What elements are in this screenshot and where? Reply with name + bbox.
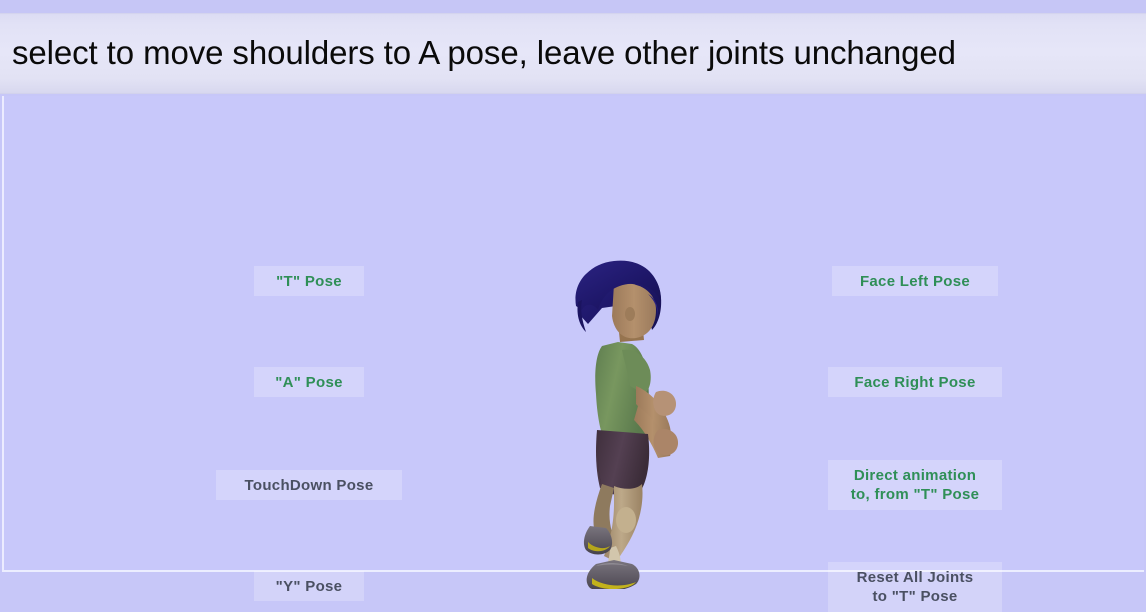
- neck: [618, 320, 644, 342]
- hand-lower-fist: [654, 429, 678, 455]
- instruction-header: select to move shoulders to A pose, leav…: [0, 13, 1146, 94]
- head: [612, 283, 656, 338]
- pose-selector-app: select to move shoulders to A pose, leav…: [0, 0, 1146, 574]
- face-left-pose-button[interactable]: Face Left Pose: [832, 266, 998, 296]
- shirt-torso: [595, 342, 649, 440]
- shoe-near: [587, 560, 640, 589]
- reset-all-joints-label-line2: to "T" Pose: [836, 587, 994, 606]
- a-pose-button[interactable]: "A" Pose: [254, 367, 364, 397]
- hair-highlight: [648, 294, 658, 324]
- shoe-near-highlight: [596, 563, 628, 566]
- leg-far: [593, 484, 618, 552]
- ear: [625, 307, 635, 321]
- direct-animation-button[interactable]: Direct animation to, from "T" Pose: [828, 460, 1002, 510]
- shirt-shadow: [597, 350, 600, 396]
- arm-forearm: [634, 406, 671, 458]
- shoe-far: [584, 526, 612, 555]
- direct-animation-label-line1: Direct animation: [854, 467, 976, 484]
- direct-animation-label-line2: to, from "T" Pose: [836, 485, 994, 504]
- shorts: [596, 430, 649, 495]
- shirt-sleeve: [622, 350, 651, 394]
- shoe-near-accent: [592, 578, 636, 589]
- reset-all-joints-label-line1: Reset All Joints: [857, 569, 974, 586]
- t-pose-button[interactable]: "T" Pose: [254, 266, 364, 296]
- touchdown-pose-button[interactable]: TouchDown Pose: [216, 470, 402, 500]
- top-strip: [0, 0, 1146, 13]
- hand-upper-fist: [653, 391, 676, 416]
- hair-back: [577, 261, 661, 330]
- reset-all-joints-button[interactable]: Reset All Joints to "T" Pose: [828, 562, 1002, 612]
- ankle-sock-near: [606, 546, 621, 572]
- pose-stage: "T" Pose "A" Pose TouchDown Pose "Y" Pos…: [2, 96, 1144, 572]
- arm-upper: [636, 386, 671, 440]
- character-model: [552, 254, 712, 589]
- hair-sideburn: [577, 300, 586, 332]
- face-right-pose-button[interactable]: Face Right Pose: [828, 367, 1002, 397]
- shoe-far-accent: [588, 542, 610, 551]
- instruction-text: select to move shoulders to A pose, leav…: [0, 36, 956, 71]
- leg-near: [604, 484, 643, 562]
- y-pose-button[interactable]: "Y" Pose: [254, 571, 364, 601]
- character-model-svg: [552, 254, 712, 589]
- knee-highlight: [616, 507, 636, 533]
- shorts-shadow: [598, 436, 602, 488]
- hair-fringe: [575, 262, 661, 310]
